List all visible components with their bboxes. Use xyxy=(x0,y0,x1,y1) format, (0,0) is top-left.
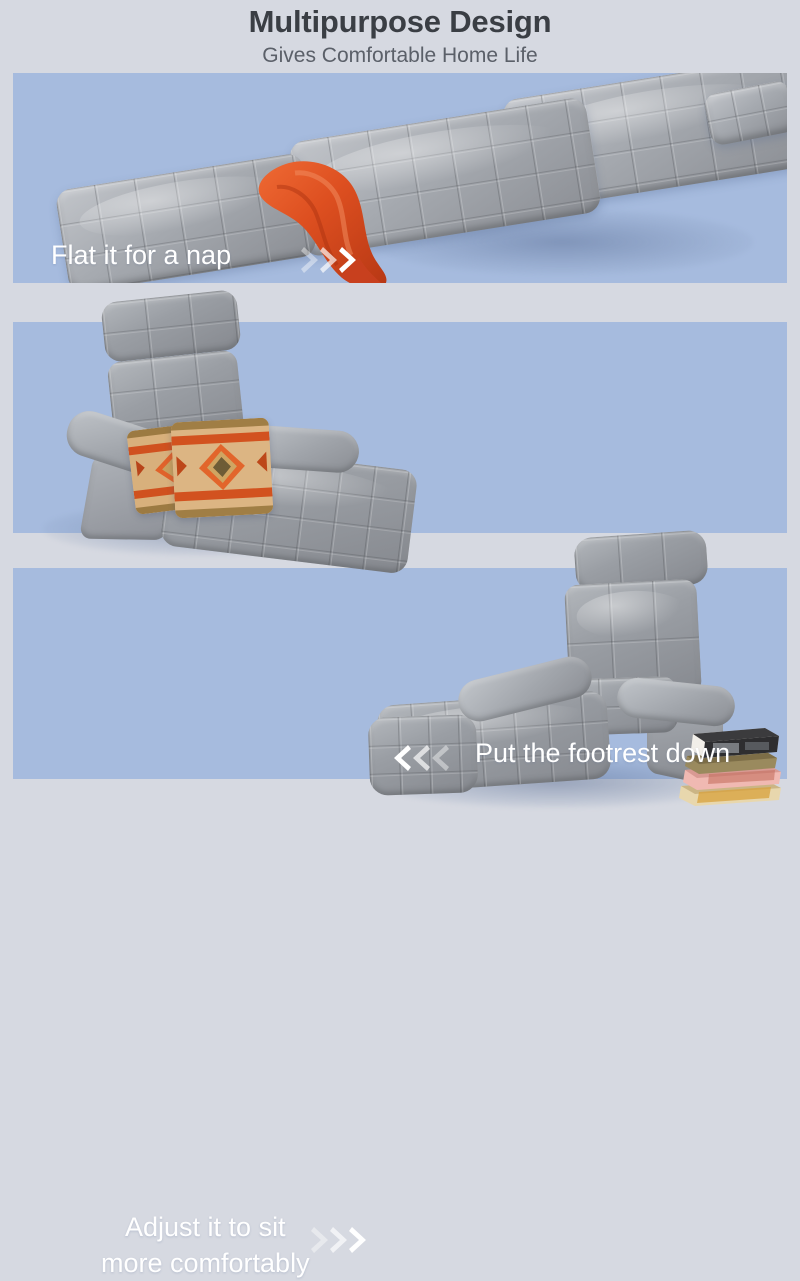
panel-1-caption: Flat it for a nap xyxy=(51,238,231,272)
chevron-right-icon xyxy=(330,1225,350,1255)
caption-line: Put the footrest down xyxy=(475,736,730,770)
page-subtitle: Gives Comfortable Home Life xyxy=(0,43,800,69)
feature-panel-flat: Flat it for a nap xyxy=(13,73,787,283)
panel-1-arrows-right xyxy=(301,245,358,275)
panel-2-arrows-left xyxy=(391,743,448,773)
caption-line: Flat it for a nap xyxy=(51,238,231,272)
illustration-upright-lounger xyxy=(361,520,791,830)
chevron-left-icon xyxy=(429,743,449,773)
chevron-right-icon xyxy=(311,1225,331,1255)
page-title: Multipurpose Design xyxy=(0,4,800,40)
caption-line: more comfortably xyxy=(101,1245,310,1281)
chevron-right-icon xyxy=(339,245,359,275)
accent-pillow-front xyxy=(171,418,274,519)
chevron-right-icon xyxy=(320,245,340,275)
chevron-right-icon xyxy=(301,245,321,275)
chevron-left-icon xyxy=(410,743,430,773)
caption-line: Adjust it to sit xyxy=(101,1209,310,1245)
chevron-left-icon xyxy=(391,743,411,773)
product-feature-graphic: Multipurpose Design Gives Comfortable Ho… xyxy=(0,0,800,800)
header: Multipurpose Design Gives Comfortable Ho… xyxy=(0,0,800,72)
panel-2-caption: Put the footrest down xyxy=(475,736,730,770)
chevron-right-icon xyxy=(349,1225,369,1255)
panel-3-arrows-right xyxy=(311,1225,368,1255)
feature-panel-footrest: Put the footrest down xyxy=(13,322,787,533)
kilim-pattern xyxy=(171,418,274,519)
panel-3-caption: Adjust it to sit more comfortably xyxy=(101,1209,310,1281)
